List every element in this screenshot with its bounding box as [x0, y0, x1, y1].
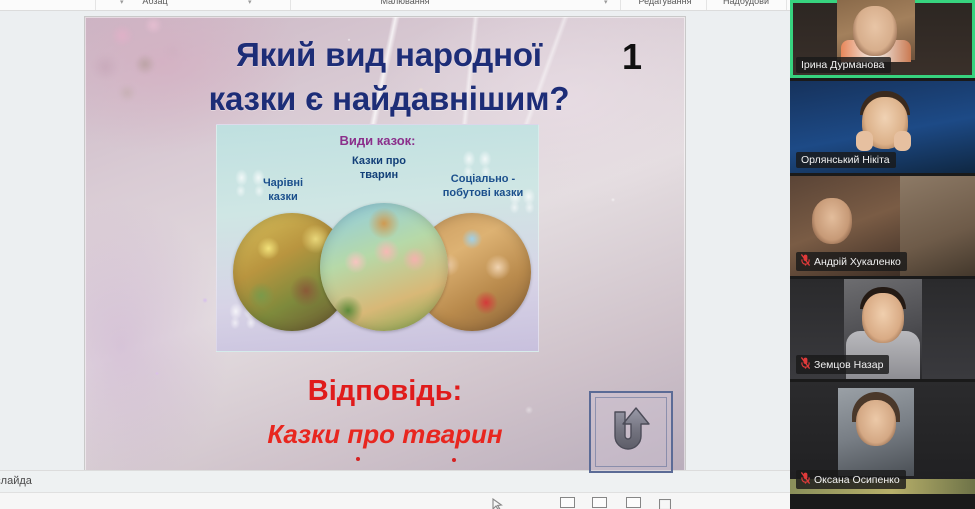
- label-line-1: Соціально -: [429, 173, 537, 187]
- return-arrow-icon: [603, 404, 659, 460]
- participant-name: Орлянський Нікіта: [801, 154, 890, 166]
- picture-label-animal-tales: Казки про тварин: [327, 155, 431, 183]
- reading-view-icon[interactable]: [626, 497, 641, 508]
- participant-name: Оксана Осипенко: [814, 474, 900, 486]
- muted-microphone-icon: [801, 472, 810, 487]
- notes-placeholder-text: о слайда: [0, 475, 32, 487]
- bullet-dot: [452, 458, 456, 462]
- participant-hand: [894, 131, 911, 151]
- video-conference-sidebar[interactable]: Ірина Дурманова Орлянський Нікіта: [790, 0, 975, 509]
- status-bar: [0, 492, 790, 509]
- slide-canvas-area[interactable]: Який вид народної казки є найдавнішим? 1…: [0, 11, 790, 470]
- label-line-1: Чарівні: [241, 177, 325, 191]
- participant-name: Ірина Дурманова: [801, 59, 885, 71]
- return-arrow-button[interactable]: [589, 391, 673, 473]
- participant-face: [853, 6, 897, 56]
- presentation-editor-window: ▾ Абзац ▾ Малювання ▾ Редагування Надбуд…: [0, 0, 790, 509]
- label-line-2: побутові казки: [429, 187, 537, 201]
- participant-video-secondary: [900, 176, 975, 276]
- bullet-dot: [356, 457, 360, 461]
- muted-microphone-icon: [801, 254, 810, 269]
- participant-name: Земцов Назар: [814, 359, 883, 371]
- slide-title-line-1: Який вид народної: [189, 33, 589, 77]
- notes-pane[interactable]: о слайда: [0, 470, 790, 492]
- floral-decoration: [84, 16, 199, 137]
- ribbon-group-editing[interactable]: Редагування: [625, 0, 705, 6]
- drawing-dialog-launcher-icon[interactable]: ▾: [604, 0, 608, 6]
- participant-video: [837, 0, 915, 60]
- slideshow-icon[interactable]: [659, 497, 671, 509]
- picture-label-magic-tales: Чарівні казки: [241, 177, 325, 205]
- participant-face: [812, 198, 852, 244]
- ribbon-group-addins[interactable]: Надбудови: [708, 0, 784, 6]
- participant-tile[interactable]: Земцов Назар: [790, 279, 975, 379]
- slide-number: 1: [622, 36, 642, 78]
- participant-name-badge: Оксана Осипенко: [796, 470, 906, 489]
- participant-face: [862, 293, 904, 343]
- participant-tile[interactable]: Ірина Дурманова: [790, 0, 975, 78]
- participant-video: [838, 388, 914, 476]
- label-line-2: тварин: [327, 169, 431, 183]
- picture-label-social-tales: Соціально - побутові казки: [429, 173, 537, 201]
- paragraph-dialog-launcher-icon[interactable]: ▾: [248, 0, 252, 6]
- participant-hand: [856, 131, 873, 151]
- application-window: ▾ Абзац ▾ Малювання ▾ Редагування Надбуд…: [0, 0, 975, 509]
- picture-heading: Види казок:: [217, 133, 538, 148]
- tale-types-image[interactable]: Види казок: Чарівні казки Казки про твар…: [216, 124, 539, 352]
- muted-microphone-icon: [801, 357, 810, 372]
- slide-surface[interactable]: Який вид народної казки є найдавнішим? 1…: [84, 16, 686, 475]
- ribbon-toolbar[interactable]: ▾ Абзац ▾ Малювання ▾ Редагування Надбуд…: [0, 0, 790, 11]
- cursor-arrow-icon[interactable]: [492, 497, 503, 509]
- participant-face: [856, 400, 896, 446]
- ribbon-group-paragraph[interactable]: Абзац: [120, 0, 190, 6]
- participant-name-badge: Андрій Хукаленко: [796, 252, 907, 271]
- label-line-1: Казки про: [327, 155, 431, 169]
- slide-title[interactable]: Який вид народної казки є найдавнішим?: [189, 33, 589, 120]
- slide-title-line-2: казки є найдавнішим?: [189, 77, 589, 121]
- label-line-2: казки: [241, 191, 325, 205]
- participant-name: Андрій Хукаленко: [814, 256, 901, 268]
- normal-view-icon[interactable]: [560, 497, 575, 508]
- tale-circle-animals: [320, 203, 448, 331]
- participant-tile[interactable]: Андрій Хукаленко: [790, 176, 975, 276]
- participant-name-badge: Орлянський Нікіта: [796, 152, 896, 168]
- participant-name-badge: Ірина Дурманова: [796, 57, 891, 73]
- participant-tile[interactable]: Оксана Осипенко: [790, 382, 975, 494]
- ribbon-group-drawing[interactable]: Малювання: [365, 0, 445, 6]
- slide-sorter-icon[interactable]: [592, 497, 607, 508]
- participant-name-badge: Земцов Назар: [796, 355, 889, 374]
- participant-tile[interactable]: Орлянський Нікіта: [790, 81, 975, 173]
